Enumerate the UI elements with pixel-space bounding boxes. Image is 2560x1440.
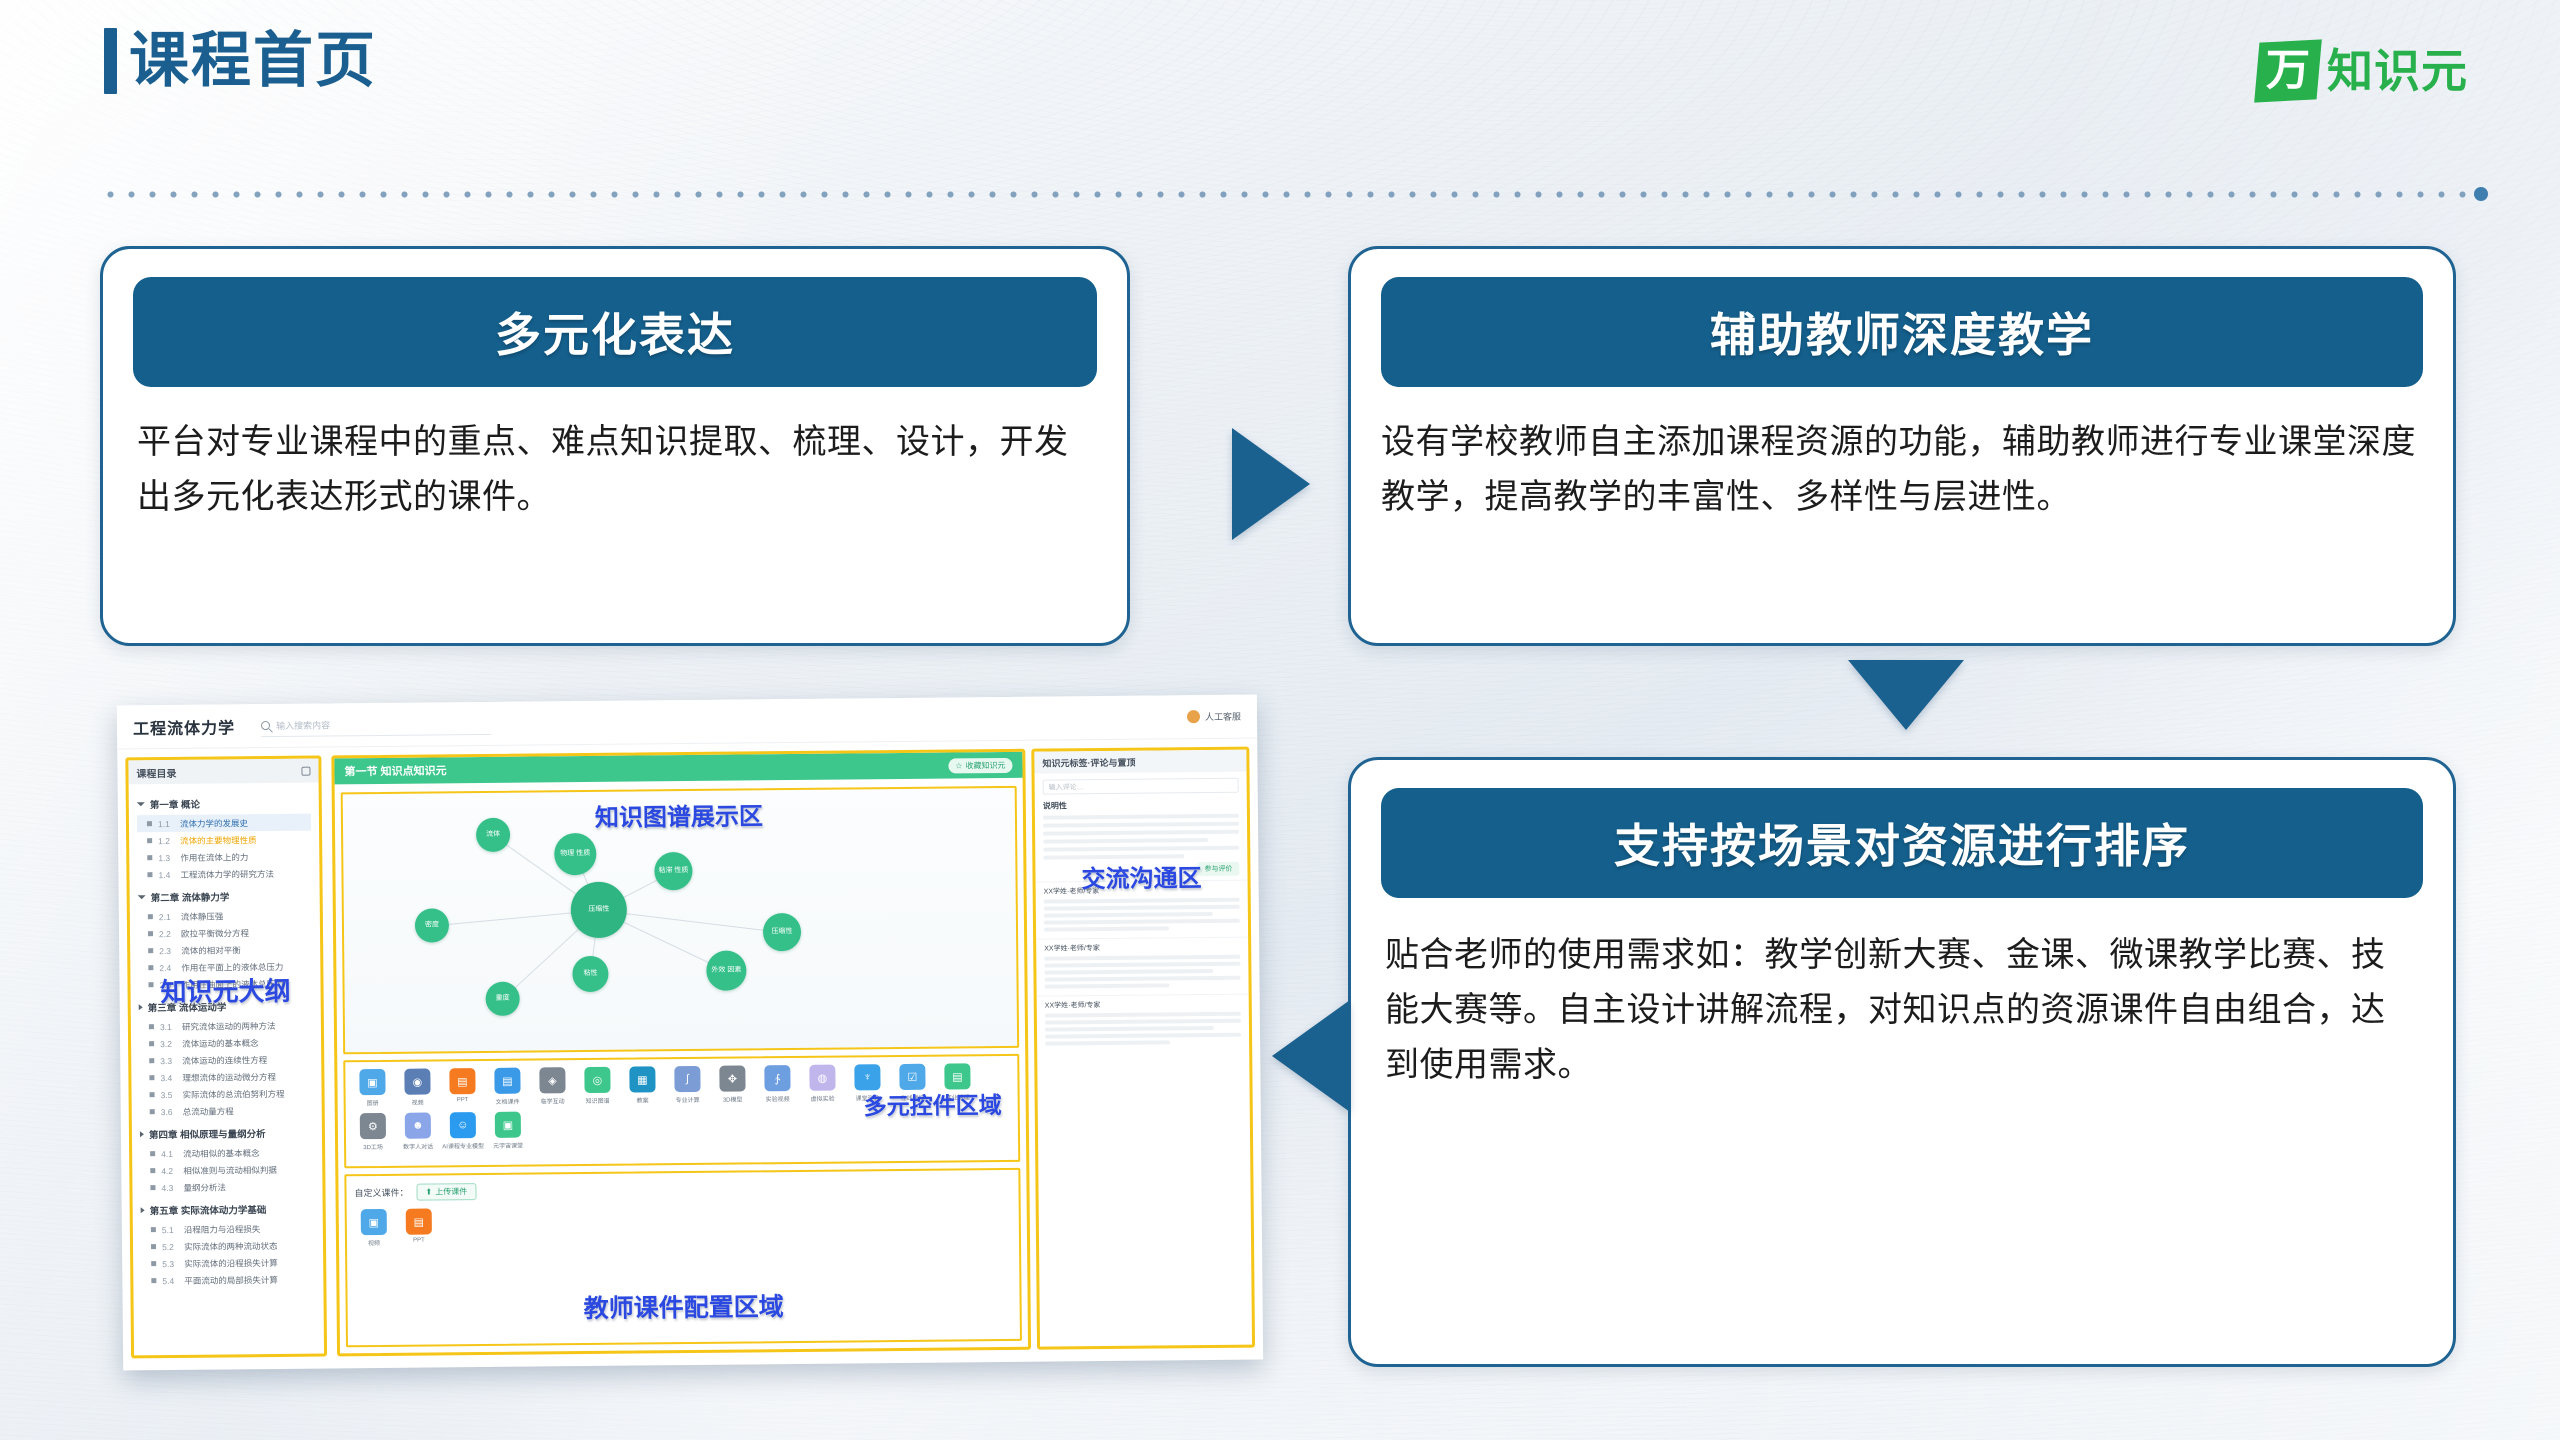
bullet-icon	[150, 1185, 155, 1190]
description-line	[1043, 830, 1239, 836]
brand-logo: 万 知识元	[2257, 40, 2468, 102]
comment-text-line	[1044, 955, 1240, 961]
comment-text-line	[1045, 1033, 1241, 1039]
description-line	[1043, 838, 1208, 844]
comments-panel-header: 知识元标签·评论与置顶	[1034, 750, 1246, 774]
control-tile-icon: ∱	[764, 1065, 790, 1091]
bullet-icon	[151, 1244, 156, 1249]
annotation-outline: 知识元大纲	[160, 971, 290, 1009]
outline-item[interactable]: 3.2流体运动的基本概念	[139, 1034, 313, 1053]
annotation-communication: 交流沟通区	[1081, 858, 1201, 894]
chevron-icon	[137, 802, 145, 806]
arrow-right-icon	[1232, 428, 1310, 540]
outline-item-label: 总流动量方程	[183, 1105, 234, 1117]
main-header-label: 第一节 知识点知识元	[344, 762, 446, 779]
outline-item[interactable]: 1.1流体力学的发展史	[137, 814, 311, 833]
outline-item[interactable]: 5.2实际流体的两种流动状态	[141, 1237, 315, 1256]
control-tile-icon: ☺	[450, 1112, 476, 1138]
bullet-icon	[147, 872, 152, 877]
bullet-icon	[151, 1227, 156, 1232]
control-tile-icon: ▣	[359, 1069, 385, 1095]
bullet-icon	[150, 1092, 155, 1097]
comment-text-line	[1044, 919, 1240, 925]
outline-item-number: 3.4	[160, 1072, 176, 1082]
control-tile-icon: ✥	[719, 1065, 745, 1091]
control-item[interactable]: ∫专业计算	[668, 1066, 706, 1104]
app-user-menu[interactable]: 人工客服	[1187, 710, 1241, 724]
control-item[interactable]: ☻数字人对话	[399, 1112, 437, 1150]
outline-chapter[interactable]: 第四章 相似原理与量纲分析	[140, 1126, 314, 1142]
bullet-icon	[148, 948, 153, 953]
description-line	[1043, 814, 1239, 820]
divider-end-dot	[2474, 187, 2488, 201]
outline-item-label: 流体力学的发展史	[180, 817, 248, 830]
outline-item-label: 实际流体的总流伯努利方程	[183, 1087, 285, 1100]
outline-item-label: 流体的相对平衡	[181, 944, 241, 957]
outline-item[interactable]: 1.2流体的主要物理性质	[137, 831, 311, 850]
comment-text-line	[1045, 983, 1170, 988]
arrow-down-icon	[1848, 660, 1964, 730]
comment-text-line	[1044, 926, 1169, 931]
bullet-icon	[151, 1278, 156, 1283]
graph-node[interactable]: 物理 性质	[554, 833, 596, 875]
graph-node[interactable]: 密度	[415, 908, 449, 942]
page-title-group: 课程首页	[104, 28, 377, 94]
bullet-icon	[149, 1058, 154, 1063]
annotation-courseware: 教师课件配置区域	[583, 1287, 783, 1325]
comment-text-line	[1044, 912, 1213, 918]
outline-chapter-label: 第二章 流体静力学	[151, 889, 230, 904]
upload-label: 上传课件	[435, 1186, 467, 1197]
graph-node-center[interactable]: 压缩性	[571, 882, 628, 939]
outline-item[interactable]: 3.3流体运动的连续性方程	[139, 1051, 313, 1070]
feature-card-3: 支持按场景对资源进行排序 贴合老师的使用需求如：教学创新大赛、金课、微课教学比赛…	[1348, 757, 2456, 1367]
app-user-label: 人工客服	[1205, 710, 1241, 723]
divider-dots	[100, 191, 2468, 198]
control-tile-icon: ◈	[539, 1067, 565, 1093]
control-label: PPT	[457, 1097, 469, 1103]
logo-mark-icon: 万	[2254, 39, 2322, 102]
description-line	[1043, 846, 1239, 852]
outline-item[interactable]: 2.2欧拉平衡微分方程	[138, 924, 312, 943]
knowledge-graph-area[interactable]: 知识图谱展示区 流体物理 性质粘滞 性质密度粘性压缩性外效 因素重度压缩性	[341, 786, 1019, 1054]
graph-node[interactable]: 重度	[486, 982, 520, 1016]
outline-item[interactable]: 3.5实际流体的总流伯努利方程	[139, 1085, 313, 1104]
comment-item: XX学姓·老师/专家	[1036, 937, 1249, 996]
upload-courseware-button[interactable]: ⬆ 上传课件	[416, 1183, 476, 1201]
graph-node[interactable]: 压缩性	[763, 913, 801, 951]
outline-chapter-label: 第四章 相似原理与量纲分析	[149, 1126, 266, 1141]
multi-control-area: ▣图册◉视频▤PPT▤文档课件◈临学互动◎知识图谱▦教案∫专业计算✥3D模型∱实…	[343, 1054, 1020, 1168]
comment-text-line	[1044, 962, 1240, 968]
outline-item[interactable]: 2.1流体静压强	[138, 907, 312, 926]
chevron-icon	[138, 895, 146, 899]
comment-text-line	[1045, 1040, 1170, 1045]
feature-card-1: 多元化表达 平台对专业课程中的重点、难点知识提取、梳理、设计，开发出多元化表达形…	[100, 246, 1130, 646]
courseware-header: 自定义课件： ⬆ 上传课件	[354, 1178, 1010, 1201]
outline-chapter[interactable]: 第五章 实际流体动力学基础	[141, 1202, 315, 1218]
control-label: 文档课件	[496, 1097, 520, 1106]
outline-item-number: 5.1	[162, 1224, 178, 1234]
outline-item-number: 1.2	[158, 835, 174, 845]
annotation-graph: 知识图谱展示区	[595, 796, 763, 833]
control-tile-icon: ☻	[405, 1112, 431, 1138]
control-item[interactable]: ▣图册	[353, 1069, 391, 1107]
control-label: 实验视频	[766, 1094, 790, 1103]
control-tile-icon: ▣	[495, 1112, 521, 1138]
outline-item-number: 1.1	[158, 818, 174, 828]
outline-panel-header: 课程目录	[128, 759, 318, 785]
comment-author: XX学姓·老师/专家	[1044, 942, 1240, 954]
outline-item-label: 实际流体的沿程损失计算	[184, 1256, 278, 1269]
bullet-icon	[148, 914, 153, 919]
card-2-title: 辅助教师深度教学	[1381, 277, 2423, 387]
outline-item-number: 3.6	[161, 1106, 177, 1116]
outline-item-label: 研究流体运动的两种方法	[182, 1019, 276, 1032]
outline-header-label: 课程目录	[136, 764, 176, 779]
bullet-icon	[148, 931, 153, 936]
bullet-icon	[149, 1024, 154, 1029]
comment-text-line	[1045, 1012, 1241, 1018]
chevron-icon	[141, 1207, 145, 1213]
outline-chapter[interactable]: 第二章 流体静力学	[138, 889, 312, 905]
title-accent-bar	[104, 28, 117, 94]
control-label: 教案	[637, 1095, 649, 1104]
bullet-icon	[149, 1075, 154, 1080]
comment-text-line	[1044, 976, 1240, 982]
avatar	[1187, 710, 1200, 723]
outline-item[interactable]: 4.2相似准则与流动相似判据	[140, 1161, 314, 1180]
outline-item-label: 实际流体的两种流动状态	[184, 1239, 278, 1252]
bullet-icon	[147, 821, 152, 826]
outline-item-number: 3.5	[161, 1089, 177, 1099]
control-item[interactable]: ⚙3D工场	[354, 1113, 392, 1151]
control-tile-icon: ▤	[494, 1068, 520, 1094]
outline-item-label: 流体的主要物理性质	[180, 834, 257, 847]
control-item[interactable]: ◉视频	[398, 1068, 436, 1106]
annotation-controls: 多元控件区域	[864, 1086, 1002, 1121]
control-tile-icon: ⚙	[360, 1113, 386, 1139]
feature-card-2: 辅助教师深度教学 设有学校教师自主添加课程资源的功能，辅助教师进行专业课堂深度教…	[1348, 246, 2456, 646]
outline-item-label: 作用在流体上的力	[180, 851, 248, 864]
outline-item[interactable]: 4.3量纲分析法	[140, 1178, 314, 1197]
control-tile-icon: ▦	[629, 1066, 655, 1092]
search-icon	[261, 721, 270, 730]
graph-node[interactable]: 粘性	[572, 956, 608, 992]
outline-item[interactable]: 1.4工程流体力学的研究方法	[137, 865, 311, 884]
graph-node[interactable]: 粘滞 性质	[654, 852, 692, 890]
outline-item-number: 4.3	[161, 1182, 177, 1192]
bullet-icon	[150, 1151, 155, 1156]
courseware-items: ▣视频▤PPT	[355, 1203, 1011, 1247]
courseware-label: 自定义课件：	[354, 1186, 408, 1200]
knowledge-description: 说明性	[1035, 799, 1248, 860]
outline-item[interactable]: 3.6总流动量方程	[140, 1102, 314, 1121]
bullet-icon	[147, 838, 152, 843]
outline-item-number: 3.2	[160, 1038, 176, 1048]
control-label: 临学互动	[541, 1096, 565, 1105]
outline-item-number: 1.3	[158, 852, 174, 862]
outline-item-number: 5.2	[162, 1241, 178, 1251]
outline-item-number: 4.1	[161, 1148, 177, 1158]
outline-item-number: 2.1	[159, 911, 175, 921]
logo-mark-text: 万	[2266, 49, 2310, 93]
outline-item[interactable]: 2.3流体的相对平衡	[138, 941, 312, 960]
control-label: 图册	[367, 1098, 379, 1107]
comment-list: XX学姓·老师/专家XX学姓·老师/专家XX学姓·老师/专家	[1036, 880, 1250, 1053]
comment-text-line	[1044, 905, 1240, 911]
collapse-icon[interactable]	[301, 766, 310, 775]
control-tile-icon: ◎	[584, 1067, 610, 1093]
outline-item-number: 1.4	[158, 869, 174, 879]
control-label: 知识图谱	[586, 1096, 610, 1105]
comment-input[interactable]: 输入评论…	[1043, 778, 1239, 795]
bullet-icon	[151, 1261, 156, 1266]
app-search-input[interactable]: 输入搜索内容	[261, 712, 491, 736]
control-label: 数字人对话	[403, 1141, 433, 1150]
favorite-label: 收藏知识元	[965, 759, 1005, 770]
outline-item-label: 理想流体的运动微分方程	[182, 1070, 276, 1083]
chevron-icon	[140, 1131, 144, 1137]
control-item[interactable]: ▤PPT	[443, 1068, 481, 1106]
outline-item-number: 4.2	[161, 1165, 177, 1175]
description-title: 说明性	[1043, 799, 1239, 812]
graph-node[interactable]: 外效 因素	[706, 950, 746, 990]
card-3-body: 贴合老师的使用需求如：教学创新大赛、金课、微课教学比赛、技能大赛等。自主设计讲解…	[1385, 928, 2419, 1093]
control-item[interactable]: ✥3D模型	[713, 1065, 751, 1103]
control-item[interactable]: ▣元宇宙课堂	[489, 1112, 527, 1150]
bullet-icon	[150, 1168, 155, 1173]
control-label: 3D工场	[363, 1142, 383, 1151]
outline-item-number: 2.3	[159, 945, 175, 955]
control-item[interactable]: ◎知识图谱	[578, 1067, 616, 1105]
course-outline-panel: 课程目录 第一章 概论1.1流体力学的发展史1.2流体的主要物理性质1.3作用在…	[125, 756, 327, 1359]
comment-text-line	[1045, 1026, 1214, 1032]
outline-item-label: 平面流动的局部损失计算	[184, 1273, 278, 1286]
app-topbar: 工程流体力学 输入搜索内容 人工客服	[117, 695, 1257, 750]
star-icon: ☆	[955, 761, 962, 770]
outline-item[interactable]: 4.1流动相似的基本概念	[140, 1144, 314, 1163]
comment-item: XX学姓·老师/专家	[1037, 994, 1250, 1053]
control-label: PPT	[413, 1238, 425, 1244]
control-tile-icon: ▣	[361, 1209, 387, 1235]
control-item[interactable]: ▣视频	[355, 1209, 393, 1247]
card-2-body: 设有学校教师自主添加课程资源的功能，辅助教师进行专业课堂深度教学，提高教学的丰富…	[1381, 415, 2423, 525]
control-label: 视频	[412, 1098, 424, 1107]
control-label: 视频	[368, 1238, 380, 1247]
outline-chapter-label: 第五章 实际流体动力学基础	[150, 1202, 267, 1217]
bullet-icon	[148, 982, 153, 987]
outline-item[interactable]: 3.4理想流体的运动微分方程	[139, 1068, 313, 1087]
outline-item-number: 3.1	[160, 1021, 176, 1031]
header-divider	[100, 188, 2488, 200]
evaluate-button[interactable]: 参与评价	[1197, 862, 1239, 876]
control-item[interactable]: ▤PPT	[400, 1208, 438, 1246]
page-header: 课程首页 万 知识元	[0, 0, 2560, 200]
control-item[interactable]: ☺AI课程专业模型	[444, 1112, 482, 1150]
control-item[interactable]: ∱实验视频	[758, 1065, 796, 1103]
outline-item[interactable]: 1.3作用在流体上的力	[137, 848, 311, 867]
card-3-title: 支持按场景对资源进行排序	[1381, 788, 2423, 898]
outline-item-label: 流体运动的连续性方程	[182, 1054, 267, 1067]
outline-item-number: 2.2	[159, 928, 175, 938]
outline-item-number: 5.3	[162, 1258, 178, 1268]
outline-item[interactable]: 5.4平面流动的局部损失计算	[141, 1271, 315, 1290]
app-search-placeholder: 输入搜索内容	[276, 718, 330, 732]
graph-node[interactable]: 流体	[476, 818, 510, 852]
outline-item-label: 工程流体力学的研究方法	[180, 867, 274, 880]
control-item[interactable]: ▦教案	[623, 1066, 661, 1104]
upload-icon: ⬆	[425, 1187, 432, 1196]
card-1-body: 平台对专业课程中的重点、难点知识提取、梳理、设计，开发出多元化表达形式的课件。	[137, 415, 1093, 525]
control-label: 虚拟实验	[811, 1094, 835, 1103]
outline-item-number: 3.3	[160, 1055, 176, 1065]
bullet-icon	[147, 855, 152, 860]
favorite-button[interactable]: ☆ 收藏知识元	[948, 757, 1012, 773]
outline-item-label: 流体运动的基本概念	[182, 1037, 259, 1050]
control-item[interactable]: ▤文档课件	[488, 1068, 526, 1106]
main-panel-header: 第一节 知识点知识元 ☆ 收藏知识元	[334, 752, 1022, 785]
outline-item-number: 5.4	[162, 1275, 178, 1285]
outline-item[interactable]: 5.3实际流体的沿程损失计算	[141, 1254, 315, 1273]
app-screenshot: 工程流体力学 输入搜索内容 人工客服 课程目录 第一章 概论1.1流体力学的发展…	[117, 695, 1263, 1371]
outline-item-label: 流动相似的基本概念	[183, 1147, 260, 1160]
comment-text-line	[1045, 1019, 1241, 1025]
outline-item-label: 欧拉平衡微分方程	[181, 927, 249, 940]
arrow-left-icon	[1272, 1000, 1350, 1112]
outline-tree: 第一章 概论1.1流体力学的发展史1.2流体的主要物理性质1.3作用在流体上的力…	[129, 783, 324, 1296]
outline-item-label: 沿程阻力与沿程损失	[184, 1223, 261, 1236]
comment-author: XX学姓·老师/专家	[1045, 999, 1241, 1011]
outline-chapter-label: 第一章 概论	[150, 797, 200, 811]
outline-item-label: 流体静压强	[181, 910, 224, 922]
comments-panel: 知识元标签·评论与置顶 输入评论… 说明性 参与评价 交流沟通区 XX学姓·老师…	[1031, 747, 1255, 1350]
control-tile-icon: ∫	[674, 1066, 700, 1092]
control-tile-icon: ▤	[406, 1208, 432, 1234]
card-1-title: 多元化表达	[133, 277, 1097, 387]
control-label: 元宇宙课堂	[493, 1141, 523, 1150]
comment-text-line	[1044, 898, 1240, 904]
description-line	[1043, 822, 1239, 828]
chevron-icon	[139, 1004, 143, 1010]
control-tile-icon: ◉	[404, 1068, 430, 1094]
app-brand-title: 工程流体力学	[133, 714, 235, 739]
comment-text-line	[1044, 969, 1213, 975]
knowledge-main-panel: 第一节 知识点知识元 ☆ 收藏知识元 知识图谱展示区 流体物理 性质粘滞 性质密…	[331, 749, 1031, 1357]
courseware-config-area: 自定义课件： ⬆ 上传课件 ▣视频▤PPT 教师课件配置区域	[344, 1168, 1022, 1347]
control-label: 3D模型	[723, 1094, 743, 1103]
bullet-icon	[148, 965, 153, 970]
logo-text: 知识元	[2327, 48, 2468, 94]
control-tile-icon: ◍	[809, 1065, 835, 1091]
page-title: 课程首页	[129, 31, 377, 91]
control-item[interactable]: ◈临学互动	[533, 1067, 571, 1105]
outline-item-label: 相似准则与流动相似判据	[183, 1163, 277, 1176]
control-label: 专业计算	[676, 1095, 700, 1104]
bullet-icon	[150, 1109, 155, 1114]
outline-item-label: 量纲分析法	[183, 1181, 226, 1193]
outline-chapter[interactable]: 第一章 概论	[137, 796, 311, 812]
outline-item[interactable]: 3.1研究流体运动的两种方法	[139, 1017, 313, 1036]
control-tile-icon: ▤	[449, 1068, 475, 1094]
control-label: AI课程专业模型	[442, 1141, 484, 1150]
control-item[interactable]: ◍虚拟实验	[803, 1065, 841, 1103]
bullet-icon	[149, 1041, 154, 1046]
outline-item[interactable]: 5.1沿程阻力与沿程损失	[141, 1220, 315, 1239]
